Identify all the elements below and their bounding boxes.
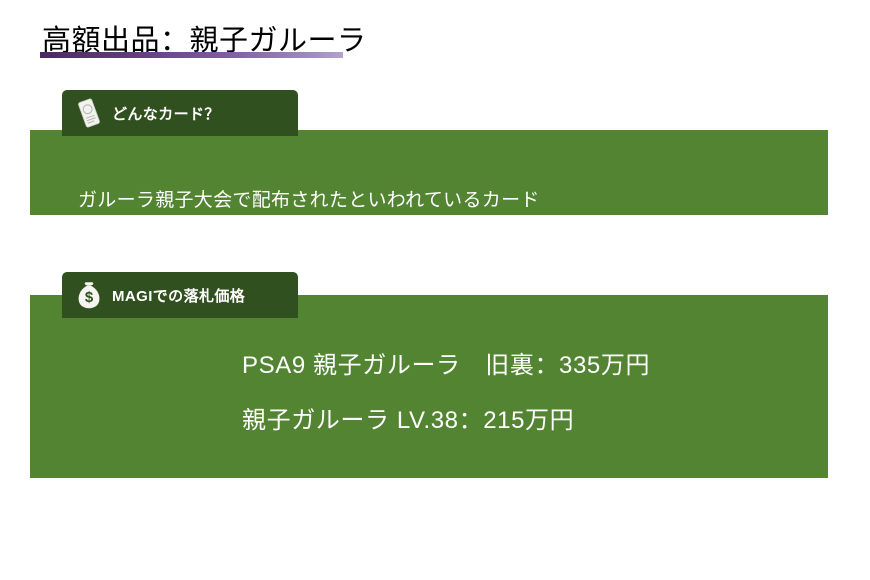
section-body-panel [30, 295, 828, 478]
section-what-card: どんなカード？ ガルーラ親子大会で配布されたといわれているカード [30, 90, 828, 215]
section-tab-what-card[interactable]: どんなカード？ [62, 90, 298, 136]
card-description-text: ガルーラ親子大会で配布されたといわれているカード [78, 185, 540, 212]
svg-text:$: $ [85, 289, 94, 306]
section-tab-auction-price[interactable]: $ MAGIでの落札価格 [62, 272, 298, 318]
section-tab-label: MAGIでの落札価格 [112, 285, 245, 306]
price-line-item: 親子ガルーラ LV.38：215万円 [242, 400, 574, 435]
section-tab-label: どんなカード？ [112, 103, 220, 124]
money-bag-icon: $ [72, 278, 106, 312]
price-line-item: PSA9 親子ガルーラ 旧裏：335万円 [242, 345, 650, 380]
section-auction-price: $ MAGIでの落札価格 PSA9 親子ガルーラ 旧裏：335万円 親子ガルーラ… [30, 272, 828, 478]
title-underline-accent [40, 52, 343, 58]
trading-card-icon [72, 96, 106, 130]
